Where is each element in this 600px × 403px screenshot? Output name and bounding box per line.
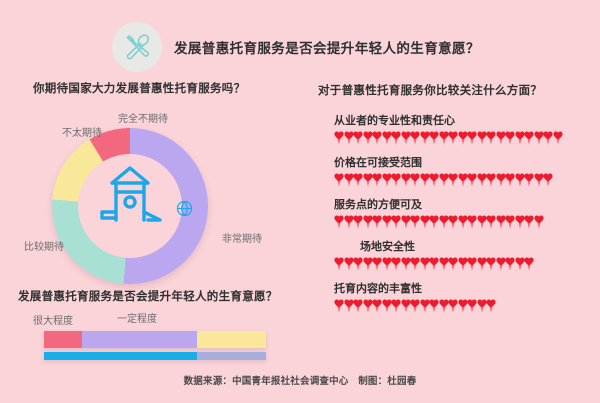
heart-icon — [496, 173, 506, 187]
heart-icon — [448, 257, 458, 271]
heart-icon — [363, 131, 373, 145]
heart-icon — [334, 299, 344, 313]
heart-icon — [486, 299, 496, 313]
heart-icon — [524, 215, 534, 229]
heart-icon — [477, 215, 487, 229]
heart-icon — [420, 257, 430, 271]
heart-icon — [477, 131, 487, 145]
heart-icon — [344, 257, 354, 271]
pictogram-row: 从业者的专业性和责任心 — [318, 112, 590, 145]
heart-icon — [363, 299, 373, 313]
heart-icon — [524, 173, 534, 187]
heart-icon — [420, 299, 430, 313]
heart-icon — [467, 173, 477, 187]
heart-icon — [467, 215, 477, 229]
bottom-section-heading: 发展普惠托育服务是否会提升年轻人的生育意愿？ — [18, 288, 278, 304]
heart-icon — [467, 299, 477, 313]
heart-icon — [505, 173, 515, 187]
pictogram-row: 托育内容的丰富性 — [318, 280, 590, 313]
heart-icon — [448, 131, 458, 145]
donut-label-mid: 比较期待 — [24, 238, 64, 253]
heart-icon — [439, 173, 449, 187]
pictogram-heart-row — [334, 299, 590, 313]
heart-icon — [496, 131, 506, 145]
heart-icon — [524, 131, 534, 145]
page-title-row: 发展普惠托育服务是否会提升年轻人的生育意愿？ — [112, 22, 480, 72]
heart-icon — [353, 173, 363, 187]
bar-legend-very-much: 很大程度 — [33, 312, 73, 327]
heart-icon — [458, 257, 468, 271]
heart-icon — [496, 257, 506, 271]
heart-icon — [410, 215, 420, 229]
bar-segment — [82, 331, 197, 348]
heart-icon — [372, 131, 382, 145]
heart-icon — [382, 257, 392, 271]
heart-icon — [458, 173, 468, 187]
pictogram-heart-row — [334, 215, 590, 229]
heart-icon — [410, 173, 420, 187]
concerns-pictogram-chart: 从业者的专业性和责任心价格在可接受范围服务点的方便可及场地安全性托育内容的丰富性 — [318, 112, 590, 322]
heart-icon — [429, 299, 439, 313]
pictogram-heart-row — [334, 173, 590, 187]
heart-icon — [467, 131, 477, 145]
heart-icon — [458, 131, 468, 145]
heart-icon — [353, 257, 363, 271]
heart-icon — [439, 131, 449, 145]
heart-icon — [515, 173, 525, 187]
heart-icon — [391, 215, 401, 229]
pictogram-row: 服务点的方便可及 — [318, 196, 590, 229]
heart-icon — [477, 257, 487, 271]
heart-icon — [334, 257, 344, 271]
pictogram-row-label: 场地安全性 — [360, 238, 590, 254]
heart-icon — [363, 173, 373, 187]
heart-icon — [334, 173, 344, 187]
heart-icon — [372, 257, 382, 271]
heart-icon — [353, 131, 363, 145]
heart-icon — [401, 257, 411, 271]
pictogram-heart-row — [334, 257, 590, 271]
pictogram-row-label: 服务点的方便可及 — [334, 196, 590, 212]
heart-icon — [515, 215, 525, 229]
heart-icon — [391, 257, 401, 271]
heart-icon — [439, 215, 449, 229]
heart-icon — [429, 131, 439, 145]
heart-icon — [543, 173, 553, 187]
bar-segment — [44, 331, 82, 348]
heart-icon — [420, 215, 430, 229]
heart-icon — [353, 299, 363, 313]
pictogram-row: 场地安全性 — [318, 238, 590, 271]
pictogram-row-label: 托育内容的丰富性 — [334, 280, 590, 296]
heart-icon — [372, 299, 382, 313]
heart-icon — [467, 257, 477, 271]
donut-label-low: 不太期待 — [62, 124, 102, 139]
right-section-heading: 对于普惠性托育服务你比较关注什么方面？ — [318, 82, 542, 98]
heart-icon — [410, 299, 420, 313]
heart-icon — [391, 299, 401, 313]
heart-icon — [553, 131, 563, 145]
heart-icon — [477, 173, 487, 187]
heart-icon — [382, 131, 392, 145]
beach-ball-icon — [176, 200, 193, 217]
heart-icon — [439, 299, 449, 313]
heart-icon — [505, 131, 515, 145]
heart-icon — [543, 131, 553, 145]
heart-icon — [486, 131, 496, 145]
expectation-donut-chart — [52, 128, 208, 284]
heart-icon — [382, 299, 392, 313]
heart-icon — [496, 215, 506, 229]
heart-icon — [486, 173, 496, 187]
heart-icon — [505, 257, 515, 271]
heart-icon — [401, 131, 411, 145]
left-section-heading: 你期待国家大力发展普惠性托育服务吗？ — [33, 80, 245, 96]
page-title: 发展普惠托育服务是否会提升年轻人的生育意愿？ — [174, 37, 480, 57]
willingness-progress-track — [44, 352, 266, 360]
heart-icon — [505, 215, 515, 229]
heart-icon — [410, 131, 420, 145]
pictogram-heart-row — [334, 131, 590, 145]
heart-icon — [477, 299, 487, 313]
heart-icon — [363, 257, 373, 271]
bar-segment — [197, 331, 266, 348]
heart-icon — [486, 215, 496, 229]
heart-icon — [458, 299, 468, 313]
heart-icon — [420, 131, 430, 145]
pictogram-row-label: 从业者的专业性和责任心 — [334, 112, 590, 128]
heart-icon — [391, 131, 401, 145]
heart-icon — [429, 215, 439, 229]
heart-icon — [515, 131, 525, 145]
infographic-canvas: 发展普惠托育服务是否会提升年轻人的生育意愿？ 你期待国家大力发展普惠性托育服务吗… — [0, 0, 600, 403]
donut-label-none: 完全不期待 — [118, 110, 168, 125]
heart-icon — [448, 173, 458, 187]
heart-icon — [334, 131, 344, 145]
heart-icon — [458, 215, 468, 229]
heart-icon — [401, 299, 411, 313]
donut-label-high: 非常期待 — [222, 230, 262, 245]
heart-icon — [353, 215, 363, 229]
heart-icon — [524, 257, 534, 271]
heart-icon — [410, 257, 420, 271]
heart-icon — [534, 215, 544, 229]
heart-icon — [420, 173, 430, 187]
heart-icon — [429, 173, 439, 187]
heart-icon — [391, 173, 401, 187]
heart-icon — [344, 299, 354, 313]
heart-icon — [382, 173, 392, 187]
willingness-stacked-bar — [44, 331, 266, 348]
heart-icon — [344, 215, 354, 229]
heart-icon — [344, 173, 354, 187]
heart-icon — [439, 257, 449, 271]
bar-legend-somewhat: 一定程度 — [117, 310, 157, 325]
heart-icon — [448, 215, 458, 229]
pictogram-row: 价格在可接受范围 — [318, 154, 590, 187]
heart-icon — [401, 215, 411, 229]
footer-credit: 数据来源：中国青年报社社会调查中心 制图：杜园春 — [0, 373, 600, 387]
heart-icon — [334, 215, 344, 229]
heart-icon — [515, 257, 525, 271]
playground-slide-icon — [92, 162, 168, 232]
heart-icon — [448, 299, 458, 313]
heart-icon — [344, 131, 354, 145]
heart-icon — [429, 257, 439, 271]
heart-icon — [534, 131, 544, 145]
heart-icon — [372, 215, 382, 229]
pictogram-row-label: 价格在可接受范围 — [334, 154, 590, 170]
heart-icon — [401, 173, 411, 187]
heart-icon — [363, 215, 373, 229]
spatula-spoon-icon — [112, 22, 162, 72]
heart-icon — [486, 257, 496, 271]
heart-icon — [382, 215, 392, 229]
willingness-progress-fill — [44, 352, 197, 360]
heart-icon — [372, 173, 382, 187]
heart-icon — [534, 173, 544, 187]
